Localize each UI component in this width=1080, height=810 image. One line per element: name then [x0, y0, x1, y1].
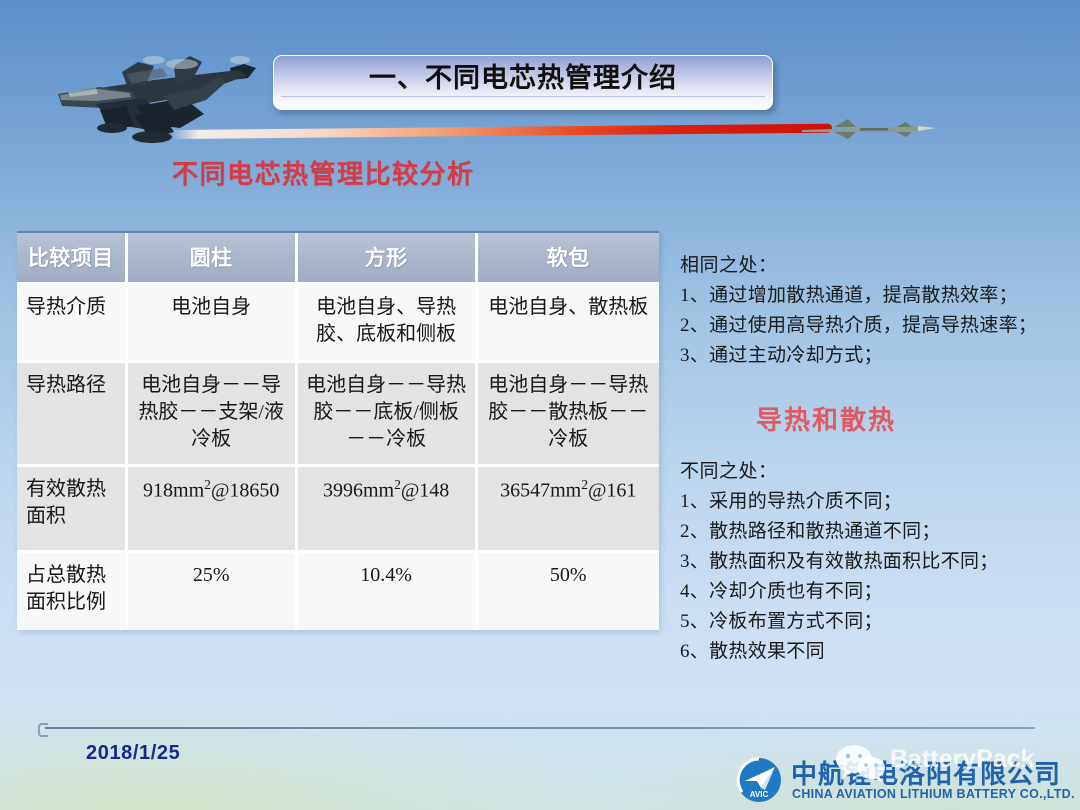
missile-trail: [172, 124, 832, 139]
avic-logo-icon: AVIC: [735, 756, 783, 804]
cell-medium-pouch: 电池自身、散热板: [476, 284, 659, 362]
similarities-list: 1、通过增加散热通道，提高散热效率； 2、通过使用高导热介质，提高导热速率； 3…: [680, 281, 1072, 371]
slide-date: 2018/1/25: [86, 742, 180, 765]
col-header-cylindrical: 圆柱: [126, 233, 296, 284]
slide-title-banner: 一、不同电芯热管理介绍: [273, 55, 773, 110]
differences-list: 1、采用的导热介质不同； 2、散热路径和散热通道不同； 3、散热面积及有效散热面…: [680, 487, 1072, 667]
col-header-pouch: 软包: [476, 233, 659, 284]
table-header-row: 比较项目 圆柱 方形 软包: [17, 233, 659, 284]
slide-subtitle: 不同电芯热管理比较分析: [172, 154, 475, 191]
col-header-item: 比较项目: [17, 233, 126, 284]
list-item: 4、冷却介质也有不同；: [680, 577, 1072, 607]
differences-heading: 不同之处：: [680, 458, 1072, 487]
table-row: 导热路径 电池自身－－导热胶－－支架/液冷板 电池自身－－导热胶－－底板/侧板－…: [17, 362, 659, 466]
list-item: 5、冷板布置方式不同；: [680, 607, 1072, 637]
comparison-table-wrap: 比较项目 圆柱 方形 软包 导热介质 电池自身 电池自身、导热胶、底板和侧板 电…: [17, 231, 659, 630]
list-item: 6、散热效果不同: [680, 637, 1072, 667]
row-label-thermal-path: 导热路径: [17, 362, 126, 466]
col-header-prismatic: 方形: [296, 233, 476, 284]
list-item: 2、散热路径和散热通道不同；: [680, 517, 1072, 547]
slide-canvas: 一、不同电芯热管理介绍 不同电芯热管理比较分析 比较项目 圆柱 方形 软包 导热…: [0, 0, 1080, 810]
table-row: 有效散热面积 918mm2@18650 3996mm2@148 36547mm2…: [17, 466, 659, 552]
cell-ratio-pouch: 50%: [476, 552, 659, 630]
list-item: 3、散热面积及有效散热面积比不同；: [680, 547, 1072, 577]
row-label-effective-area: 有效散热面积: [17, 466, 126, 552]
table-row: 导热介质 电池自身 电池自身、导热胶、底板和侧板 电池自身、散热板: [17, 284, 659, 362]
cell-path-prismatic: 电池自身－－导热胶－－底板/侧板－－冷板: [296, 362, 476, 466]
cell-ratio-prismatic: 10.4%: [296, 552, 476, 630]
row-label-area-ratio: 占总散热面积比例: [17, 552, 126, 630]
comparison-table: 比较项目 圆柱 方形 软包 导热介质 电池自身 电池自身、导热胶、底板和侧板 电…: [17, 233, 659, 630]
company-logo: AVIC 中航锂电洛阳有限公司 CHINA AVIATION LITHIUM B…: [735, 754, 1075, 806]
page-title: 一、不同电芯热管理介绍: [274, 60, 772, 96]
fighter-jet-icon: [34, 44, 284, 156]
company-name-english: CHINA AVIATION LITHIUM BATTERY CO.,LTD.: [792, 787, 1075, 801]
list-item: 1、采用的导热介质不同；: [680, 487, 1072, 517]
avic-logo-text: AVIC: [750, 790, 769, 799]
list-item: 3、通过主动冷却方式；: [680, 341, 1072, 371]
cell-area-prismatic: 3996mm2@148: [296, 466, 476, 552]
company-name-chinese: 中航锂电洛阳有限公司: [791, 754, 1061, 791]
cell-medium-cylindrical: 电池自身: [126, 284, 296, 362]
footer-divider: [45, 727, 1035, 729]
similarities-heading: 相同之处：: [680, 252, 1072, 281]
cell-ratio-cylindrical: 25%: [126, 552, 296, 630]
cell-area-pouch: 36547mm2@161: [476, 466, 659, 552]
similarities-block: 相同之处： 1、通过增加散热通道，提高散热效率； 2、通过使用高导热介质，提高导…: [680, 252, 1072, 371]
list-item: 1、通过增加散热通道，提高散热效率；: [680, 281, 1072, 311]
differences-block: 不同之处： 1、采用的导热介质不同； 2、散热路径和散热通道不同； 3、散热面积…: [680, 458, 1072, 667]
cell-path-cylindrical: 电池自身－－导热胶－－支架/液冷板: [126, 362, 296, 466]
row-label-thermal-medium: 导热介质: [17, 284, 126, 362]
table-row: 占总散热面积比例 25% 10.4% 50%: [17, 552, 659, 630]
cell-path-pouch: 电池自身－－导热胶－－散热板－－冷板: [476, 362, 659, 466]
list-item: 2、通过使用高导热介质，提高导热速率；: [680, 311, 1072, 341]
conduction-dissipation-highlight: 导热和散热: [756, 400, 896, 437]
cell-medium-prismatic: 电池自身、导热胶、底板和侧板: [296, 284, 476, 362]
cell-area-cylindrical: 918mm2@18650: [126, 466, 296, 552]
